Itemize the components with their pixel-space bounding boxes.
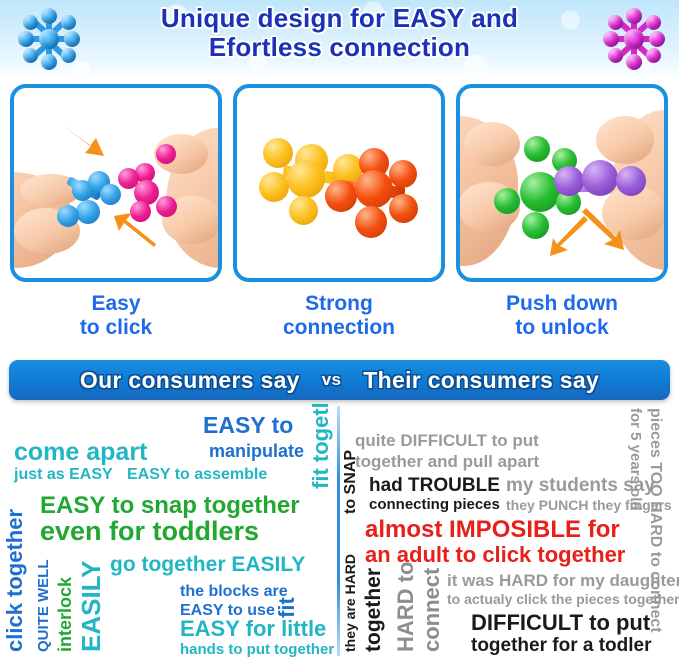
word-connecting-pieces: connecting pieces [369, 497, 500, 512]
title-line-2: Efortless connection [78, 33, 601, 62]
word-cloud-theirs: quite DIFFICULT to put together and pull… [341, 404, 679, 658]
word-together: together [363, 568, 384, 652]
word-the-blocks-are: the blocks are [180, 584, 288, 600]
caption-1-line-1: Easy [10, 292, 222, 316]
arrow-up-left-icon [110, 206, 158, 248]
word-go-together-easily: go together EASILY [110, 554, 305, 575]
molecule-icon-blue [18, 8, 80, 70]
panel-captions: Easy to click Strong connection Push dow… [0, 292, 679, 352]
our-consumers-label: Our consumers say [80, 367, 300, 394]
word-it-was-hard-for-my-daughter: it was HARD for my daughter [447, 572, 679, 589]
word-just-as-easy: just as EASY [14, 467, 113, 483]
panel-easy-to-click [10, 84, 222, 282]
word-quite-difficult-to-put: quite DIFFICULT to put [355, 432, 539, 449]
product-infographic: Unique design for EASY and Efortless con… [0, 0, 679, 658]
caption-1-line-2: to click [10, 316, 222, 340]
photo-hands-blue-pink [14, 88, 218, 278]
word-easy-for-little: EASY for little [180, 618, 326, 640]
word-come-apart: come apart [14, 440, 147, 465]
cloud-divider [337, 406, 340, 656]
panel-strong-connection [233, 84, 445, 282]
their-consumers-label: Their consumers say [363, 367, 599, 394]
word-had-trouble: had TROUBLE [369, 476, 500, 495]
vs-label: vs [322, 370, 342, 390]
word-fit: fit [276, 597, 298, 618]
word-fit-together-easily: fit together EASILY [310, 404, 332, 489]
header-banner: Unique design for EASY and Efortless con… [0, 0, 679, 79]
comparison-bar: Our consumers say vs Their consumers say [9, 360, 670, 400]
title-line-1: Unique design for EASY and [161, 3, 518, 33]
molecule-icon-magenta [603, 8, 665, 70]
panel-push-down-unlock [456, 84, 668, 282]
word-even-for-toddlers: even for toddlers [40, 518, 259, 545]
word-hard-to: HARD to [395, 562, 417, 652]
page-title: Unique design for EASY and Efortless con… [78, 4, 601, 63]
caption-easy-to-click: Easy to click [10, 292, 222, 339]
word-easy-to-snap-together: EASY to snap together [40, 494, 300, 518]
word-almost-imposible-for: almost IMPOSIBLE for [365, 518, 620, 542]
caption-3-line-2: to unlock [456, 316, 668, 340]
word-to-snap: to SNAP [343, 450, 359, 514]
word-quite-well: QUITE WELL [36, 560, 51, 653]
word-manipulate: manipulate [209, 442, 304, 460]
photo-hands-green-purple [460, 88, 664, 278]
word-easily: EASILY [78, 560, 104, 652]
word-connect: connect [421, 568, 443, 652]
word-to-actualy-click: to actualy click the pieces together [447, 592, 679, 606]
word-hands-to-put-together: hands to put together [180, 642, 334, 657]
photo-panel-row [0, 80, 679, 292]
word-easy-to: EASY to [203, 414, 293, 437]
caption-2-line-2: connection [233, 316, 445, 340]
word-they-are-hard: they are HARD [343, 554, 357, 652]
caption-push-down-to-unlock: Push down to unlock [456, 292, 668, 339]
arrow-down-right-icon [60, 122, 106, 158]
word-difficult-to-put: DIFFICULT to put [471, 612, 650, 634]
word-easy-to-assemble: EASY to assemble [127, 467, 267, 483]
word-interlock: interlock [56, 577, 74, 652]
caption-2-line-1: Strong [233, 292, 445, 316]
word-click-together: click together [4, 509, 26, 652]
word-together-and-pull-apart: together and pull apart [355, 453, 539, 470]
photo-yellow-orange-connected [237, 88, 441, 278]
word-cloud-ours: come apart just as EASY EASY to assemble… [0, 404, 337, 658]
word-pieces-too-hard-to-connect: pieces TOO HARD to connect [647, 408, 663, 633]
caption-3-line-1: Push down [456, 292, 668, 316]
caption-strong-connection: Strong connection [233, 292, 445, 339]
word-together-for-a-todler: together for a todler [471, 636, 652, 655]
word-for-5-years-old: for 5 years old [628, 408, 643, 511]
word-cloud-section: come apart just as EASY EASY to assemble… [0, 404, 679, 658]
arrow-down-right-icon-2 [582, 206, 630, 252]
